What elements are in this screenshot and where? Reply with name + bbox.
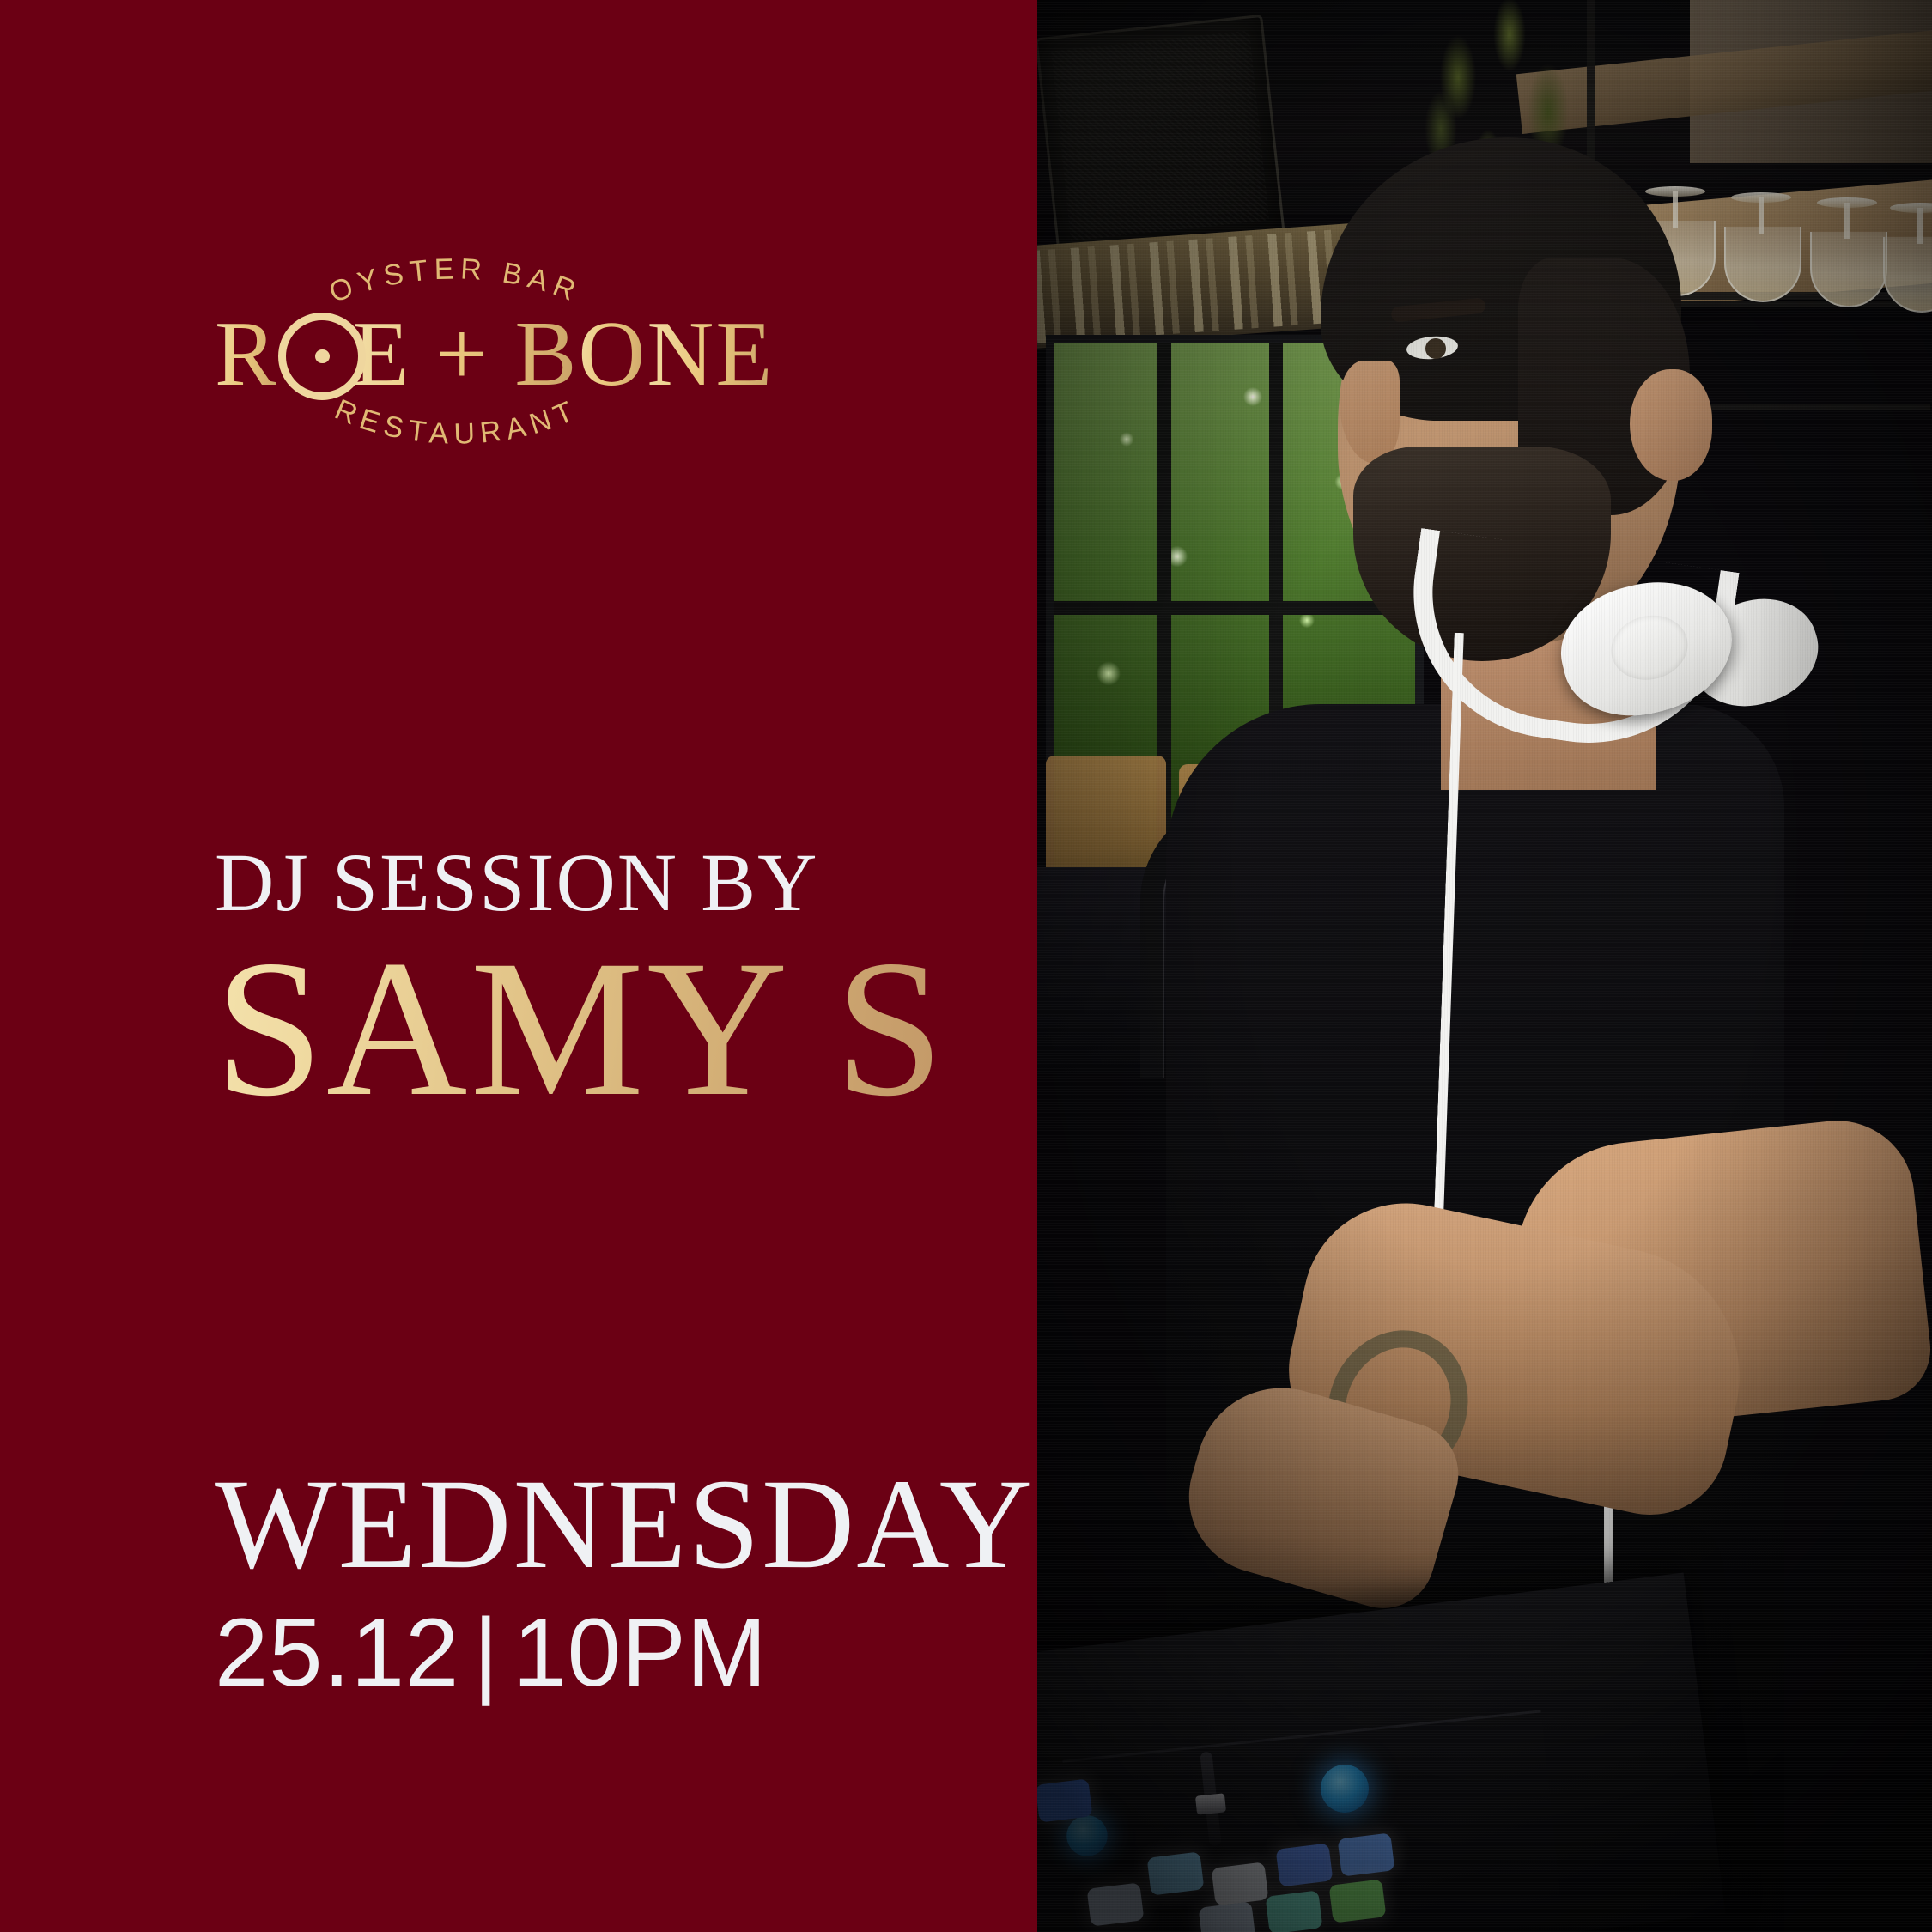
event-time: 10PM — [513, 1599, 768, 1706]
event-flyer: OYSTER BAR RESTAURANT RE + BONE DJ SESSI… — [0, 0, 1932, 1932]
dj-ear — [1630, 369, 1712, 481]
event-day-month: 25.12 — [215, 1599, 459, 1706]
datetime-separator: | — [459, 1599, 513, 1706]
dj-name: SAMY S — [215, 929, 1013, 1129]
roe-pearl-o-icon — [278, 297, 352, 385]
dj-pupil — [1425, 338, 1446, 359]
controller-pad — [1266, 1890, 1323, 1932]
controller-pad — [1276, 1843, 1334, 1886]
wordmark-part-3: O — [578, 303, 647, 405]
controller-knob-icon — [1321, 1765, 1369, 1813]
wine-glass-icon — [1724, 191, 1798, 302]
headline-block: DJ SESSION BY SAMY S — [215, 841, 1013, 1129]
event-weekday: WEDNESDAY — [215, 1460, 1013, 1589]
dj-photo — [1037, 0, 1932, 1932]
controller-pad — [1147, 1851, 1205, 1895]
controller-pad — [1338, 1832, 1395, 1876]
logo-wordmark: RE + BONE — [215, 297, 696, 401]
wordmark-part-4: NE — [647, 303, 774, 405]
event-datetime: 25.12|10PM — [215, 1602, 1013, 1704]
brand-logo: OYSTER BAR RESTAURANT RE + BONE — [215, 204, 696, 496]
controller-pad — [1199, 1901, 1256, 1932]
controller-pad — [1037, 1778, 1092, 1822]
wordmark-part-2: E + B — [352, 303, 578, 405]
ceiling-speaker — [1037, 15, 1285, 257]
date-block: WEDNESDAY 25.12|10PM — [215, 1460, 1013, 1704]
controller-pad — [1329, 1879, 1387, 1923]
controller-fader-cap — [1195, 1793, 1226, 1814]
controller-knob-icon — [1066, 1815, 1108, 1856]
controller-pad — [1087, 1882, 1145, 1926]
wine-glass-icon — [1810, 196, 1884, 307]
controller-pad — [1212, 1862, 1269, 1905]
wine-glass-icon — [1883, 201, 1932, 313]
left-text-panel: OYSTER BAR RESTAURANT RE + BONE DJ SESSI… — [0, 0, 1037, 1932]
event-kicker: DJ SESSION BY — [215, 841, 1013, 924]
wordmark-part-1: R — [215, 303, 278, 405]
